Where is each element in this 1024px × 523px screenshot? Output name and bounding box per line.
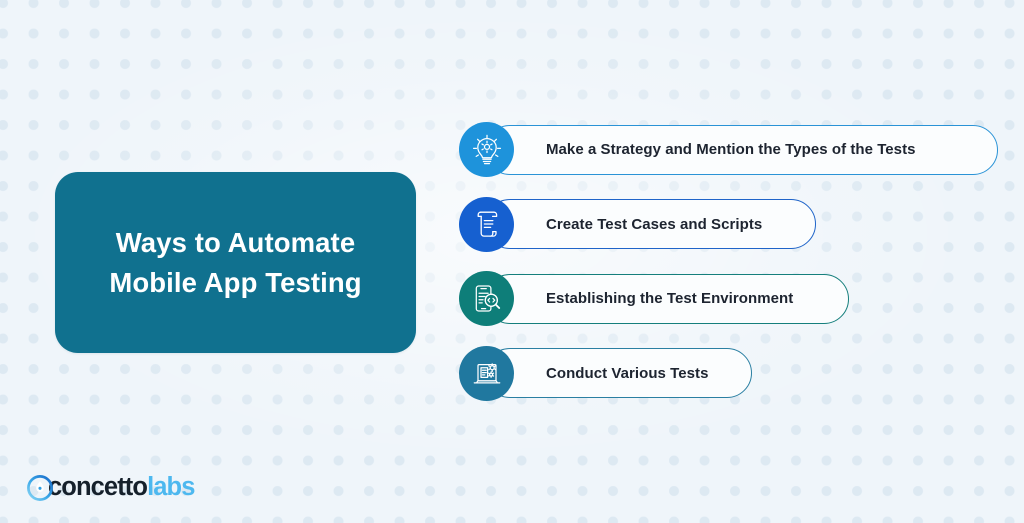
step-pill-4[interactable]: Conduct Various Tests bbox=[485, 348, 752, 398]
step-label-3: Establishing the Test Environment bbox=[546, 290, 793, 307]
infographic-canvas: Ways to Automate Mobile App Testing Make… bbox=[0, 0, 1024, 523]
step-label-1: Make a Strategy and Mention the Types of… bbox=[546, 141, 916, 158]
mobile-magnifier-icon bbox=[459, 271, 514, 326]
logo-wordmark: concettolabs bbox=[48, 475, 195, 501]
step-label-4: Conduct Various Tests bbox=[546, 365, 708, 382]
step-pill-3[interactable]: Establishing the Test Environment bbox=[485, 274, 849, 324]
logo-word-secondary: labs bbox=[147, 473, 194, 501]
lightbulb-gear-icon bbox=[459, 122, 514, 177]
logo-word-primary: concetto bbox=[48, 473, 147, 501]
page-title: Ways to Automate Mobile App Testing bbox=[109, 223, 361, 301]
step-pill-1[interactable]: Make a Strategy and Mention the Types of… bbox=[485, 125, 998, 175]
step-pill-2[interactable]: Create Test Cases and Scripts bbox=[485, 199, 816, 249]
laptop-gears-icon bbox=[459, 346, 514, 401]
brand-logo[interactable]: concettolabs bbox=[27, 473, 195, 503]
concetto-logo-mark-icon bbox=[27, 475, 53, 501]
title-card: Ways to Automate Mobile App Testing bbox=[55, 172, 416, 353]
scroll-document-icon bbox=[459, 197, 514, 252]
step-label-2: Create Test Cases and Scripts bbox=[546, 216, 762, 233]
